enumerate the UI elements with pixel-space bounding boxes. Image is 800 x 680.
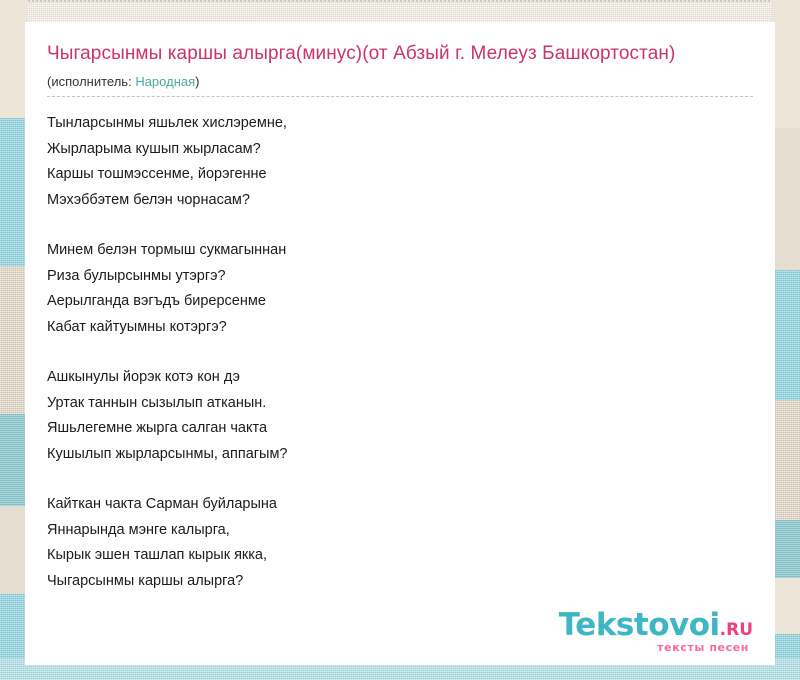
artist-suffix: ) <box>195 74 199 89</box>
lyrics-verse: Минем белэн тормыш сукмагыннанРиза булыр… <box>47 238 753 340</box>
right-edge-block <box>772 578 800 634</box>
lyrics-line: Яшьлегемне жырга салган чакта <box>47 416 753 442</box>
lyrics-text: Тынларсынмы яшьлек хислэремне,Жырларыма … <box>47 111 753 594</box>
lyrics-line: Мэхэббэтем белэн чорнасам? <box>47 188 753 214</box>
left-edge-block <box>0 0 28 118</box>
lyrics-line: Каршы тошмэссенме, йорэгенне <box>47 162 753 188</box>
page-title: Чыгарсынмы каршы алырга(минус)(от Абзый … <box>47 40 707 67</box>
lyrics-line: Тынларсынмы яшьлек хислэремне, <box>47 111 753 137</box>
right-edge-block <box>772 0 800 128</box>
right-edge-block <box>772 270 800 400</box>
lyrics-line: Уртак таннын сызылып атканын. <box>47 391 753 417</box>
logo-tld: .RU <box>720 622 753 639</box>
lyrics-line: Аерылганда вэгъдъ бирерсенме <box>47 289 753 315</box>
artist-line: (исполнитель: Народная) <box>47 73 753 90</box>
lyrics-line: Чыгарсынмы каршы алырга? <box>47 569 753 595</box>
lyrics-line: Кушылып жырларсынмы, аппагым? <box>47 442 753 468</box>
lyrics-line: Кайткан чакта Сарман буйларына <box>47 492 753 518</box>
right-edge-block <box>772 400 800 520</box>
artist-label: (исполнитель: <box>47 74 132 89</box>
lyrics-line: Яннарында мэнге калырга, <box>47 518 753 544</box>
left-edge-block <box>0 506 28 594</box>
right-edge-decoration <box>772 0 800 680</box>
lyrics-verse: Тынларсынмы яшьлек хислэремне,Жырларыма … <box>47 111 753 213</box>
lyrics-verse: Кайткан чакта Сарман буйларынаЯннарында … <box>47 492 753 594</box>
left-edge-block <box>0 266 28 414</box>
lyrics-line: Минем белэн тормыш сукмагыннан <box>47 238 753 264</box>
left-edge-block <box>0 414 28 506</box>
header-divider <box>47 96 753 97</box>
lyrics-verse: Ашкынулы йорэк котэ кон дэУртак таннын с… <box>47 365 753 467</box>
left-edge-block <box>0 118 28 266</box>
site-logo[interactable]: Tekstovoi.RU тексты песен <box>559 610 753 653</box>
logo-wordmark: Tekstovoi <box>559 610 720 641</box>
right-edge-block <box>772 128 800 270</box>
page-background: Чыгарсынмы каршы алырга(минус)(от Абзый … <box>0 0 800 680</box>
song-content-card: Чыгарсынмы каршы алырга(минус)(от Абзый … <box>25 22 775 665</box>
artist-link[interactable]: Народная <box>135 74 195 89</box>
lyrics-line: Жырларыма кушып жырласам? <box>47 137 753 163</box>
lyrics-line: Риза булырсынмы утэргэ? <box>47 264 753 290</box>
top-hairline-decoration <box>0 0 800 2</box>
logo-tagline: тексты песен <box>559 642 753 653</box>
lyrics-line: Ашкынулы йорэк котэ кон дэ <box>47 365 753 391</box>
lyrics-line: Кырык эшен ташлап кырык якка, <box>47 543 753 569</box>
right-edge-block <box>772 520 800 578</box>
left-edge-decoration <box>0 0 28 680</box>
lyrics-line: Кабат кайтуымны котэргэ? <box>47 315 753 341</box>
